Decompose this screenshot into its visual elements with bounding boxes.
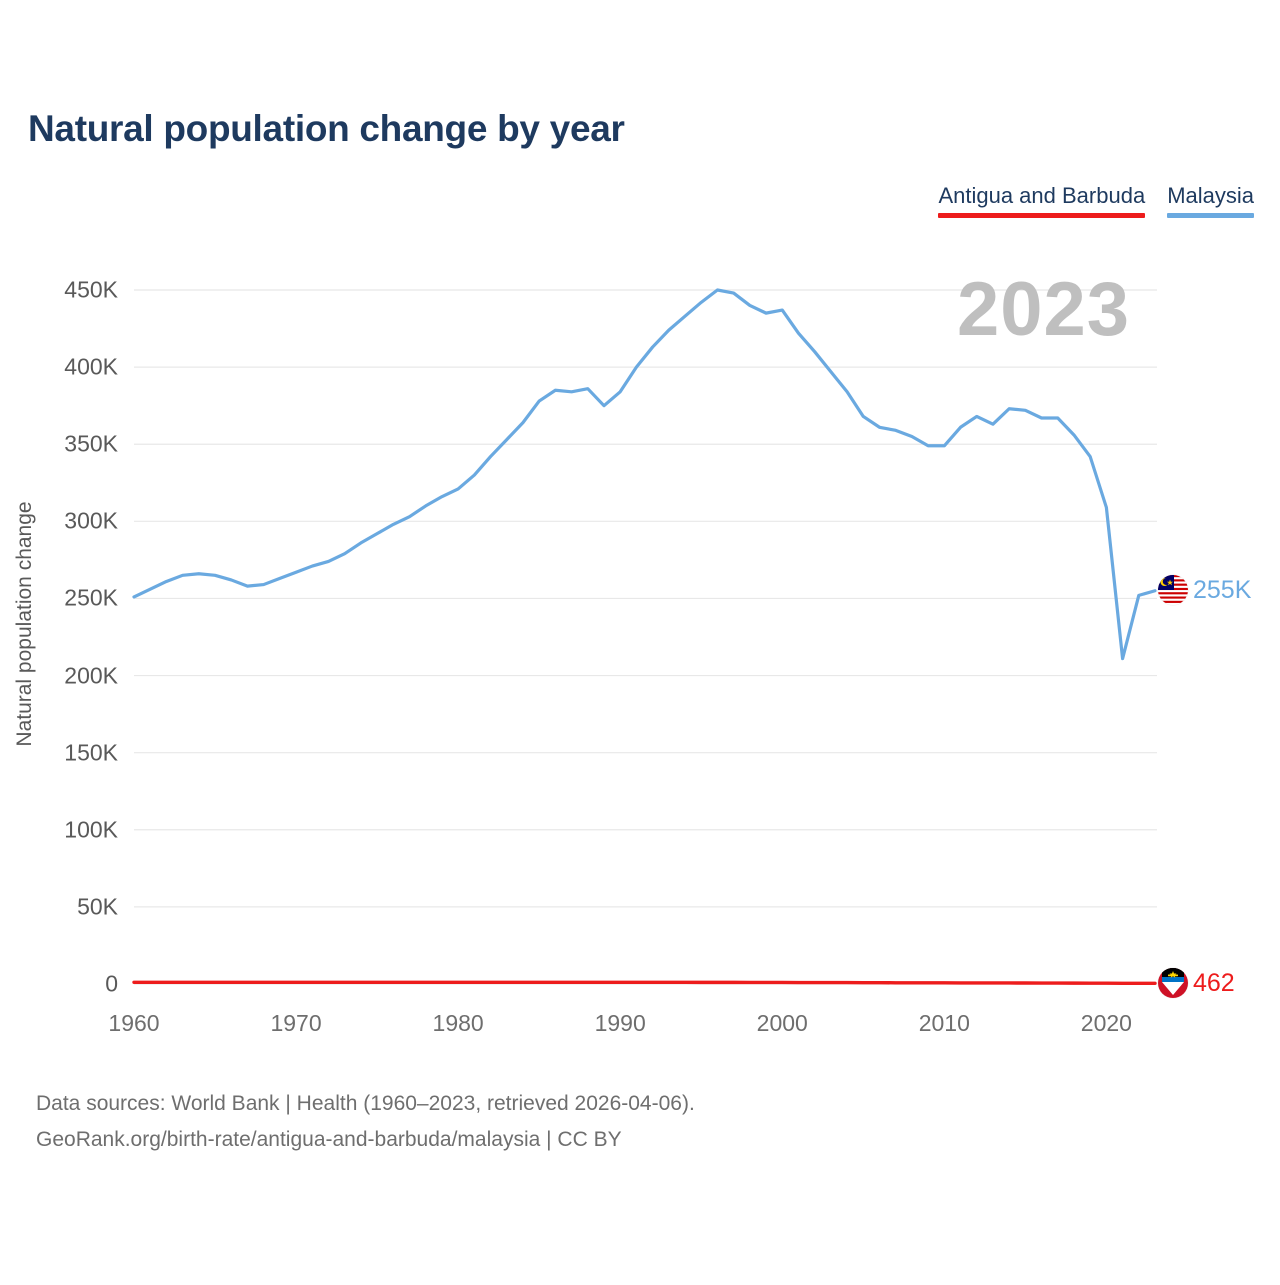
malaysia-flag-icon [1158, 575, 1188, 605]
y-axis-tick-label: 0 [8, 971, 118, 998]
y-axis-tick-label: 50K [8, 893, 118, 920]
y-axis-tick-label: 100K [8, 816, 118, 843]
end-label-malaysia: 255K [1158, 575, 1251, 605]
legend-label-antigua-and-barbuda: Antigua and Barbuda [938, 183, 1145, 213]
end-label-value-malaysia: 255K [1193, 576, 1251, 605]
legend-label-malaysia: Malaysia [1167, 183, 1254, 213]
legend-color-swatch-antigua-and-barbuda [938, 213, 1145, 218]
end-label-antigua-and-barbuda: 462 [1158, 968, 1235, 998]
series-line-antigua-and-barbuda [134, 982, 1155, 983]
footer-line-data-sources: Data sources: World Bank | Health (1960–… [36, 1086, 695, 1122]
footer-sources: Data sources: World Bank | Health (1960–… [36, 1086, 695, 1158]
y-axis-tick-label: 350K [8, 431, 118, 458]
footer-line-attribution: GeoRank.org/birth-rate/antigua-and-barbu… [36, 1122, 695, 1158]
page-title: Natural population change by year [28, 108, 625, 150]
chart-legend: Antigua and Barbuda Malaysia [938, 183, 1254, 218]
legend-item-malaysia[interactable]: Malaysia [1167, 183, 1254, 218]
x-axis-tick-label: 1990 [575, 1010, 665, 1037]
y-axis-tick-label: 400K [8, 354, 118, 381]
x-axis-tick-label: 1970 [251, 1010, 341, 1037]
x-axis-tick-label: 1960 [89, 1010, 179, 1037]
antigua-and-barbuda-flag-icon [1158, 968, 1188, 998]
year-watermark: 2023 [957, 266, 1130, 353]
x-axis-tick-label: 2000 [737, 1010, 827, 1037]
legend-item-antigua-and-barbuda[interactable]: Antigua and Barbuda [938, 183, 1145, 218]
x-axis-tick-label: 2010 [899, 1010, 989, 1037]
x-axis-tick-label: 2020 [1061, 1010, 1151, 1037]
legend-color-swatch-malaysia [1167, 213, 1254, 218]
end-label-value-antigua: 462 [1193, 969, 1235, 998]
y-axis-title: Natural population change [13, 494, 37, 754]
y-axis-tick-label: 450K [8, 277, 118, 304]
x-axis-tick-label: 1980 [413, 1010, 503, 1037]
